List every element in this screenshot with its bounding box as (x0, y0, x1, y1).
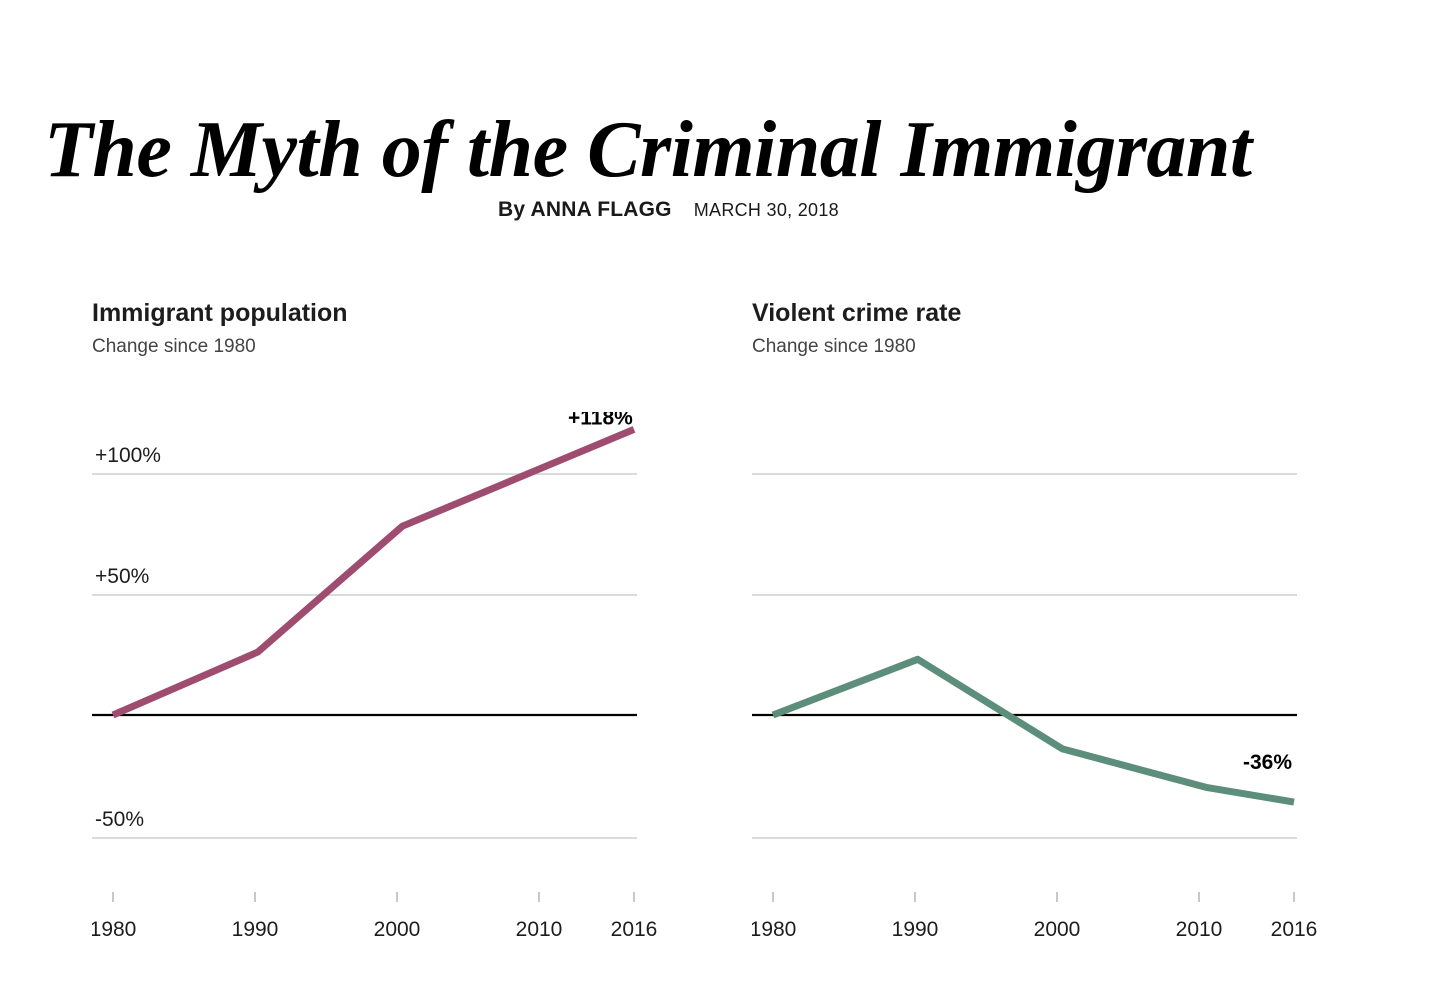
x-axis-label-2010: 2010 (1176, 918, 1223, 941)
x-axis-label-1990: 1990 (892, 918, 939, 941)
chart-end-label-violent-crime-rate: -36% (1243, 751, 1292, 774)
x-axis-label-2010: 2010 (516, 918, 563, 941)
chart-plot-immigrant-population: +100% +50% -50% +118% (92, 412, 712, 902)
x-axis-label-1980: 1980 (752, 918, 796, 941)
y-axis-label-50: +50% (95, 565, 149, 588)
chart-subtitle-violent-crime-rate: Change since 1980 (752, 337, 1372, 358)
chart-title-violent-crime-rate: Violent crime rate (752, 300, 1372, 328)
series-line-violent-crime-rate (773, 659, 1294, 802)
chart-panel-violent-crime-rate: Violent crime rate Change since 1980 -36… (752, 300, 1372, 960)
byline-date: MARCH 30, 2018 (694, 200, 839, 221)
x-axis-label-2000: 2000 (374, 918, 421, 941)
chart-end-label-immigrant-population: +118% (568, 412, 633, 429)
y-axis-label-100: +100% (95, 444, 161, 467)
chart-subtitle-immigrant-population: Change since 1980 (92, 337, 712, 358)
x-axis-label-2016: 2016 (1271, 918, 1318, 941)
chart-plot-violent-crime-rate: -36% (752, 412, 1372, 902)
y-axis-label-minus-50: -50% (95, 808, 144, 831)
x-axis-label-1980: 1980 (92, 918, 136, 941)
byline: By ANNA FLAGG MARCH 30, 2018 (498, 198, 839, 222)
page-title: The Myth of the Criminal Immigrant (44, 110, 1384, 190)
series-line-immigrant-population (113, 429, 634, 715)
x-axis-label-1990: 1990 (232, 918, 279, 941)
chart-panel-immigrant-population: Immigrant population Change since 1980 +… (92, 300, 712, 960)
chart-title-immigrant-population: Immigrant population (92, 300, 712, 328)
x-axis-immigrant-population: 1980 1990 2000 2010 2016 (92, 912, 712, 952)
x-axis-violent-crime-rate: 1980 1990 2000 2010 2016 (752, 912, 1372, 952)
byline-author: By ANNA FLAGG (498, 198, 672, 222)
x-axis-label-2000: 2000 (1034, 918, 1081, 941)
x-axis-label-2016: 2016 (611, 918, 658, 941)
